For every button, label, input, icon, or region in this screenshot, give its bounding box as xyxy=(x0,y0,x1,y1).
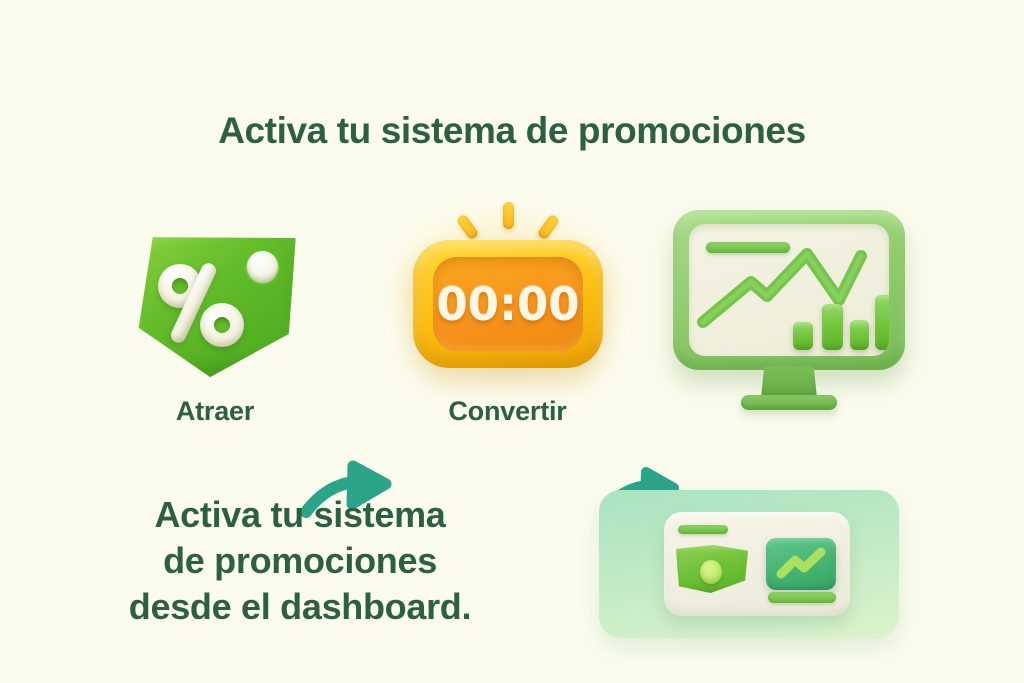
monitor-bar-4 xyxy=(875,295,889,350)
flow-step-attract: Atraer xyxy=(110,196,320,427)
monitor-bar-1 xyxy=(793,322,813,350)
monitor-base xyxy=(741,395,837,410)
monitor-frame xyxy=(673,210,905,370)
monitor-stand xyxy=(761,366,817,398)
timer-body: 00:00 xyxy=(413,240,603,368)
countdown-timer-icon: 00:00 xyxy=(395,196,620,384)
chart-tile-line-icon xyxy=(766,538,836,590)
timer-display-value: 00:00 xyxy=(436,278,579,331)
tag-body-shape xyxy=(125,214,304,387)
sparkle-middle-icon xyxy=(503,202,514,229)
promo-card xyxy=(599,490,899,638)
poster-canvas: Activa tu sistema de promociones Atraer xyxy=(0,0,1024,683)
flow-step-label-convert: Convertir xyxy=(395,396,620,427)
flow-diagram: Atraer 00:00 Convertir xyxy=(0,196,1024,426)
tag-hole-icon xyxy=(247,251,278,282)
footer-copy: Activa tu sistema de promociones desde e… xyxy=(0,492,600,630)
banknote-coin-icon xyxy=(700,560,722,584)
discount-tag-icon xyxy=(122,224,308,384)
page-title: Activa tu sistema de promociones xyxy=(0,110,1024,152)
promo-placeholder-bar-top xyxy=(678,525,728,534)
footer-line-1: Activa tu sistema xyxy=(0,492,600,538)
promo-card-panel xyxy=(664,512,850,616)
footer-line-2: de promociones xyxy=(0,538,600,584)
dashboard-monitor-icon xyxy=(665,210,915,416)
monitor-bar-2 xyxy=(822,304,843,350)
flow-step-convert: 00:00 Convertir xyxy=(395,196,620,427)
flow-step-measure xyxy=(665,196,915,428)
footer-line-3: desde el dashboard. xyxy=(0,584,600,630)
promo-placeholder-bar-bottom xyxy=(768,592,836,603)
timer-screen: 00:00 xyxy=(433,257,583,351)
monitor-bar-3 xyxy=(850,320,869,350)
percent-bottom-circle xyxy=(200,303,244,347)
monitor-screen xyxy=(689,224,889,356)
chart-tile-icon xyxy=(766,538,836,590)
flow-step-label-attract: Atraer xyxy=(110,396,320,427)
